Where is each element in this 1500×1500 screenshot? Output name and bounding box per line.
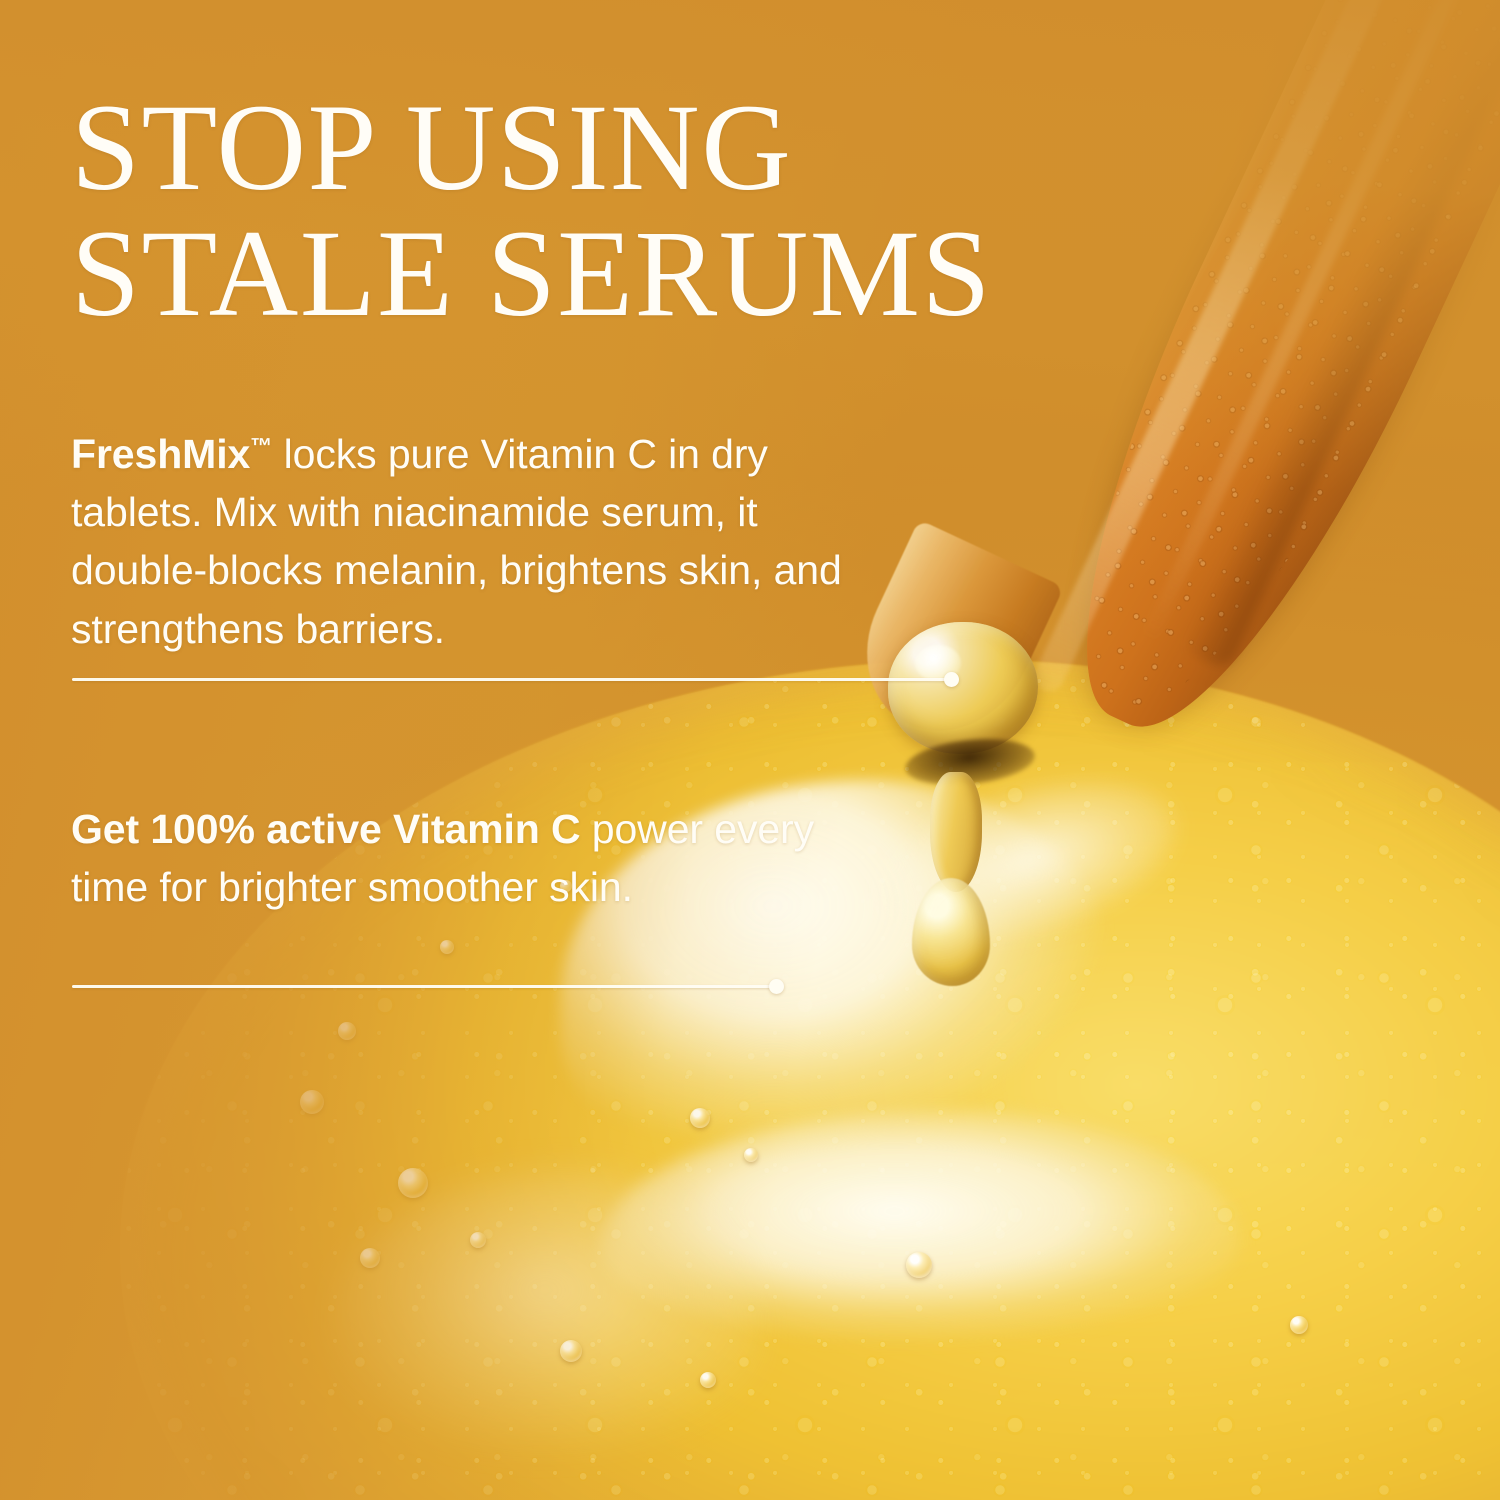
- benefit-highlight-text: Get 100% active Vitamin C: [71, 806, 580, 852]
- divider-end-dot-1: [944, 672, 959, 687]
- divider-line-1: [72, 678, 948, 681]
- headline-line-1: STOP USING: [71, 85, 1131, 211]
- feature-paragraph: FreshMix™ locks pure Vitamin C in dry ta…: [71, 425, 881, 658]
- freshmix-brand-name: FreshMix: [71, 431, 250, 477]
- trademark-symbol: ™: [250, 433, 272, 458]
- headline-line-2: STALE SERUMS: [71, 211, 1131, 337]
- feature-block-freshmix: FreshMix™ locks pure Vitamin C in dry ta…: [71, 425, 971, 658]
- divider-line-2: [72, 985, 772, 988]
- product-hero-poster: STOP USING STALE SERUMS FreshMix™ locks …: [0, 0, 1500, 1500]
- benefit-paragraph: Get 100% active Vitamin C power every ti…: [71, 800, 881, 916]
- divider-end-dot-2: [769, 979, 784, 994]
- page-title: STOP USING STALE SERUMS: [71, 85, 1131, 338]
- feature-block-benefit: Get 100% active Vitamin C power every ti…: [71, 800, 971, 916]
